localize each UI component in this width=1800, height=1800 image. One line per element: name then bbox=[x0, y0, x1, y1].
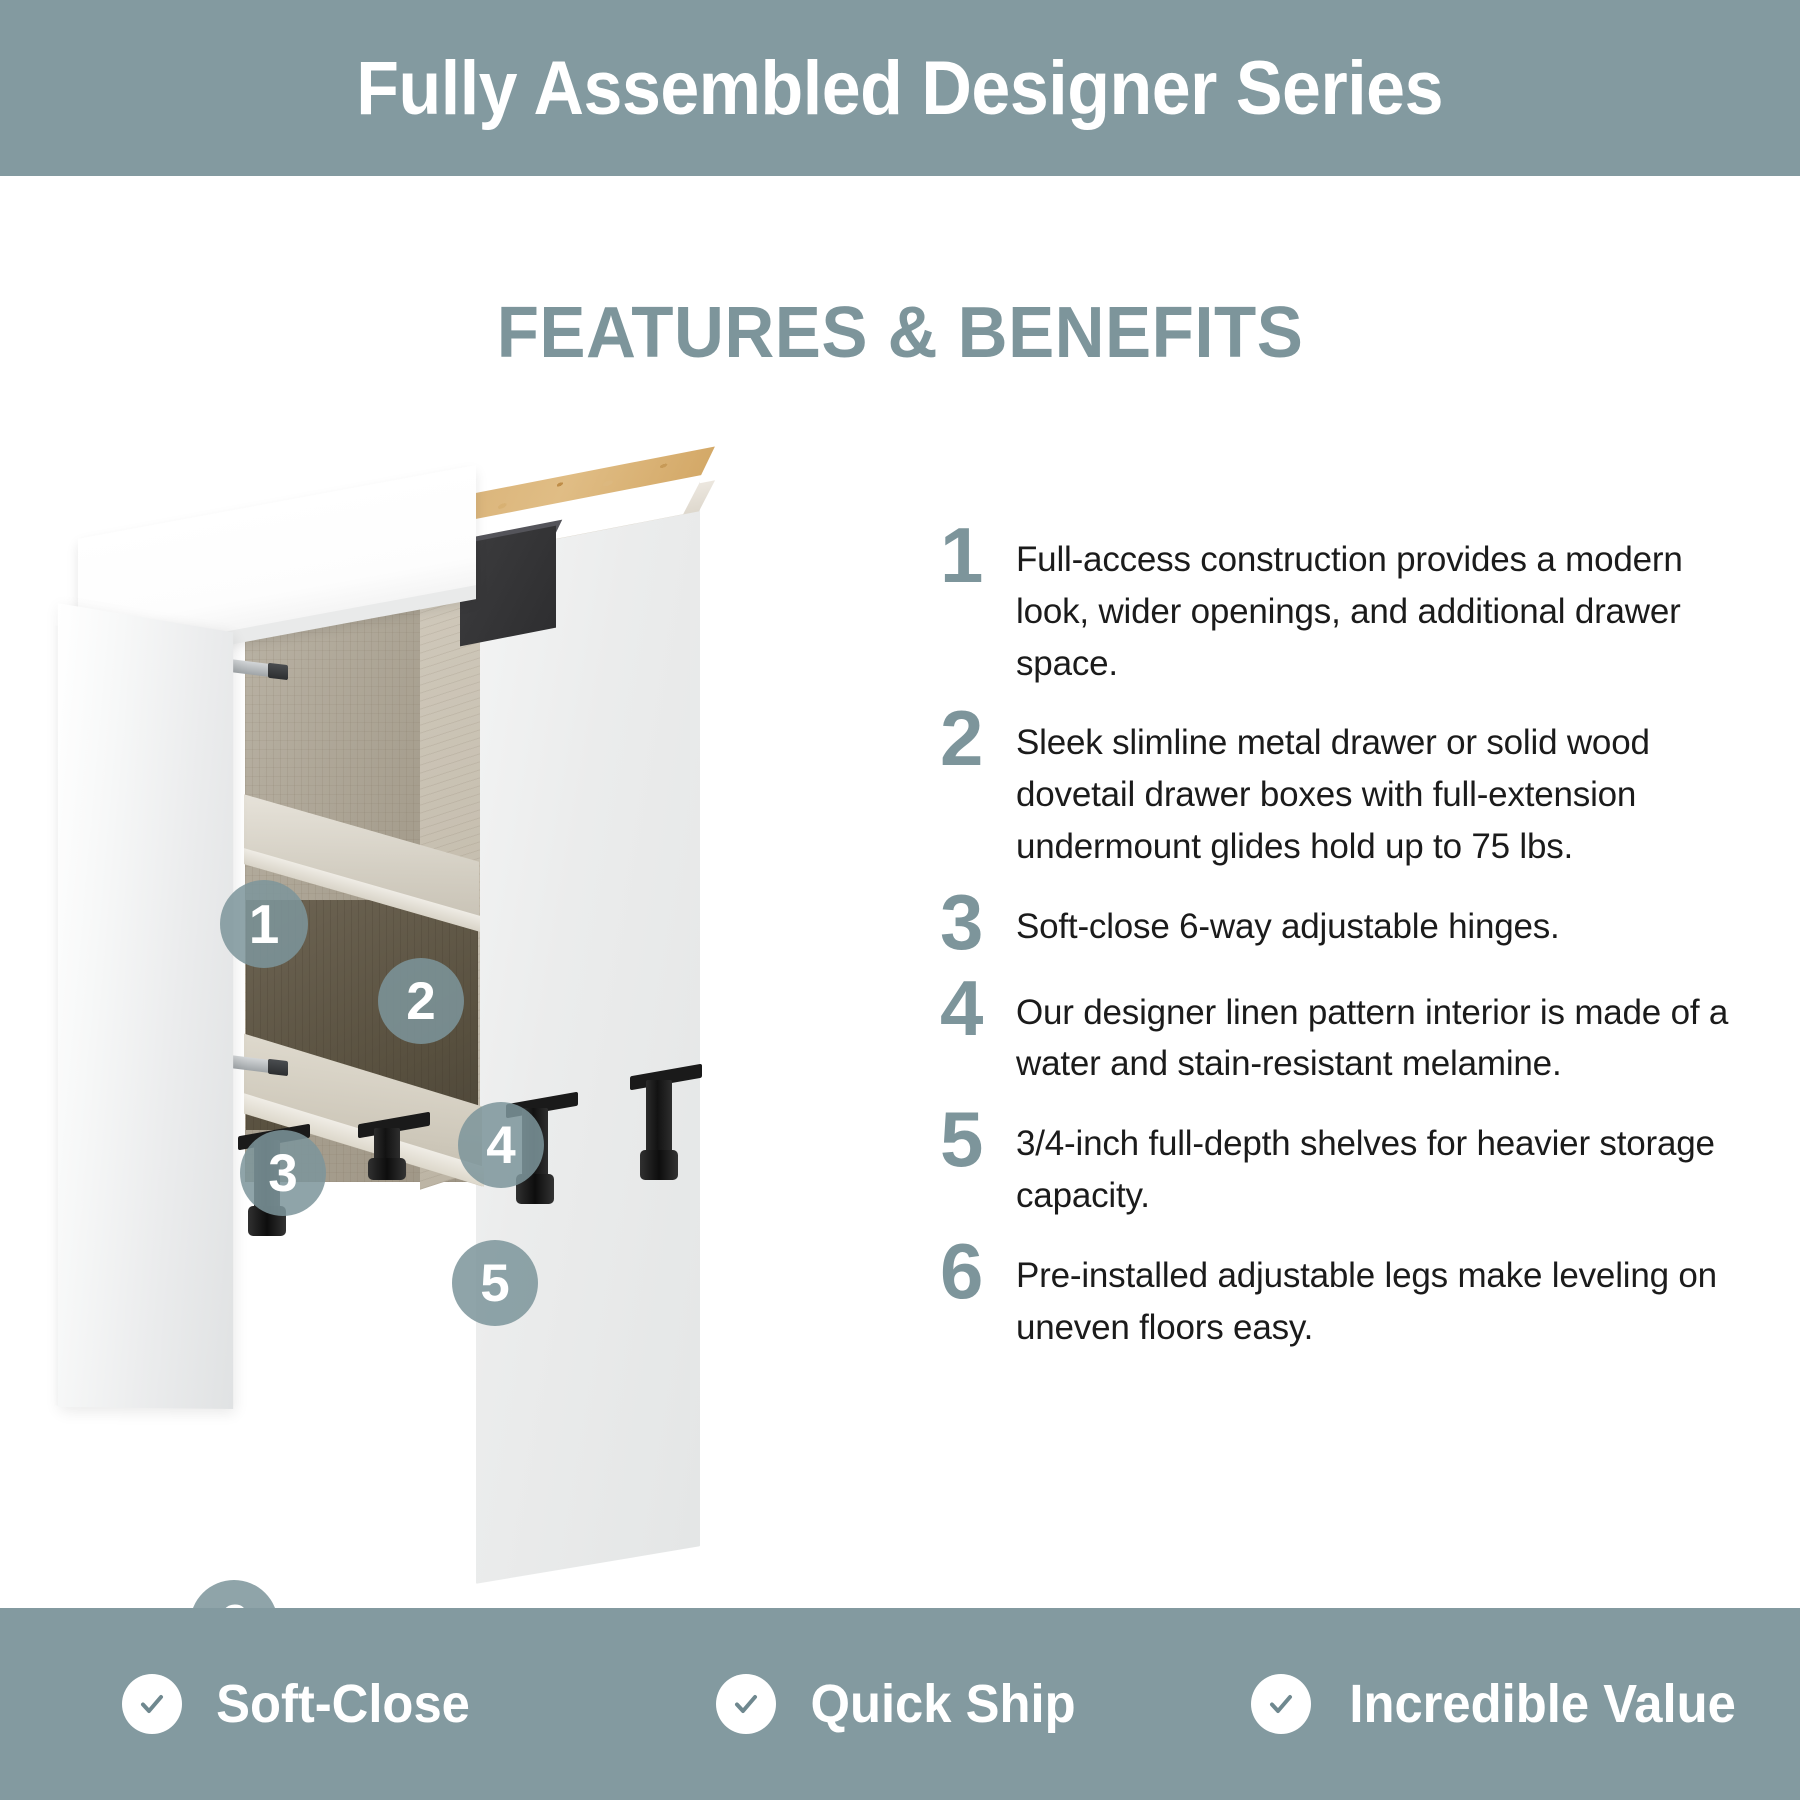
footer-badge-1: Soft-Close bbox=[0, 1673, 600, 1735]
footer-label: Incredible Value bbox=[1350, 1673, 1737, 1735]
features-list: 1Full-access construction provides a mod… bbox=[940, 520, 1750, 1367]
feature-item-3: 3Soft-close 6-way adjustable hinges. bbox=[940, 887, 1750, 959]
page-title: FEATURES & BENEFITS bbox=[36, 292, 1764, 374]
header-title: Fully Assembled Designer Series bbox=[357, 45, 1444, 132]
callout-badge-3: 3 bbox=[240, 1130, 326, 1216]
check-icon bbox=[716, 1674, 776, 1734]
feature-number: 1 bbox=[940, 520, 1016, 592]
feature-description: Soft-close 6-way adjustable hinges. bbox=[1016, 887, 1750, 953]
cabinet-graphic: 123456 bbox=[40, 430, 900, 1430]
feature-description: Full-access construction provides a mode… bbox=[1016, 520, 1750, 689]
callout-badge-5: 5 bbox=[452, 1240, 538, 1326]
feature-number: 5 bbox=[940, 1104, 1016, 1176]
footer-bar: Soft-CloseQuick ShipIncredible Value bbox=[0, 1608, 1800, 1800]
footer-label: Quick Ship bbox=[810, 1673, 1075, 1735]
feature-item-1: 1Full-access construction provides a mod… bbox=[940, 520, 1750, 689]
cabinet-right-body bbox=[476, 476, 700, 1583]
feature-number: 2 bbox=[940, 703, 1016, 775]
callout-badge-1: 1 bbox=[220, 880, 308, 968]
feature-number: 4 bbox=[940, 973, 1016, 1045]
check-icon bbox=[122, 1674, 182, 1734]
feature-description: 3/4-inch full-depth shelves for heavier … bbox=[1016, 1104, 1750, 1222]
feature-item-4: 4Our designer linen pattern interior is … bbox=[940, 973, 1750, 1091]
cabinet-door-panel bbox=[58, 603, 233, 1409]
header-bar: Fully Assembled Designer Series bbox=[0, 0, 1800, 176]
feature-number: 6 bbox=[940, 1236, 1016, 1308]
footer-label: Soft-Close bbox=[216, 1673, 470, 1735]
callout-badge-2: 2 bbox=[378, 958, 464, 1044]
feature-description: Sleek slimline metal drawer or solid woo… bbox=[1016, 703, 1750, 872]
feature-item-5: 53/4-inch full-depth shelves for heavier… bbox=[940, 1104, 1750, 1222]
feature-item-6: 6Pre-installed adjustable legs make leve… bbox=[940, 1236, 1750, 1354]
feature-description: Pre-installed adjustable legs make level… bbox=[1016, 1236, 1750, 1354]
product-illustration: 123456 bbox=[40, 430, 900, 1430]
footer-badge-3: Incredible Value bbox=[1200, 1673, 1800, 1735]
footer-badge-2: Quick Ship bbox=[600, 1673, 1200, 1735]
feature-number: 3 bbox=[940, 887, 1016, 959]
feature-description: Our designer linen pattern interior is m… bbox=[1016, 973, 1750, 1091]
check-icon bbox=[1251, 1674, 1311, 1734]
feature-item-2: 2Sleek slimline metal drawer or solid wo… bbox=[940, 703, 1750, 872]
callout-badge-4: 4 bbox=[458, 1102, 544, 1188]
